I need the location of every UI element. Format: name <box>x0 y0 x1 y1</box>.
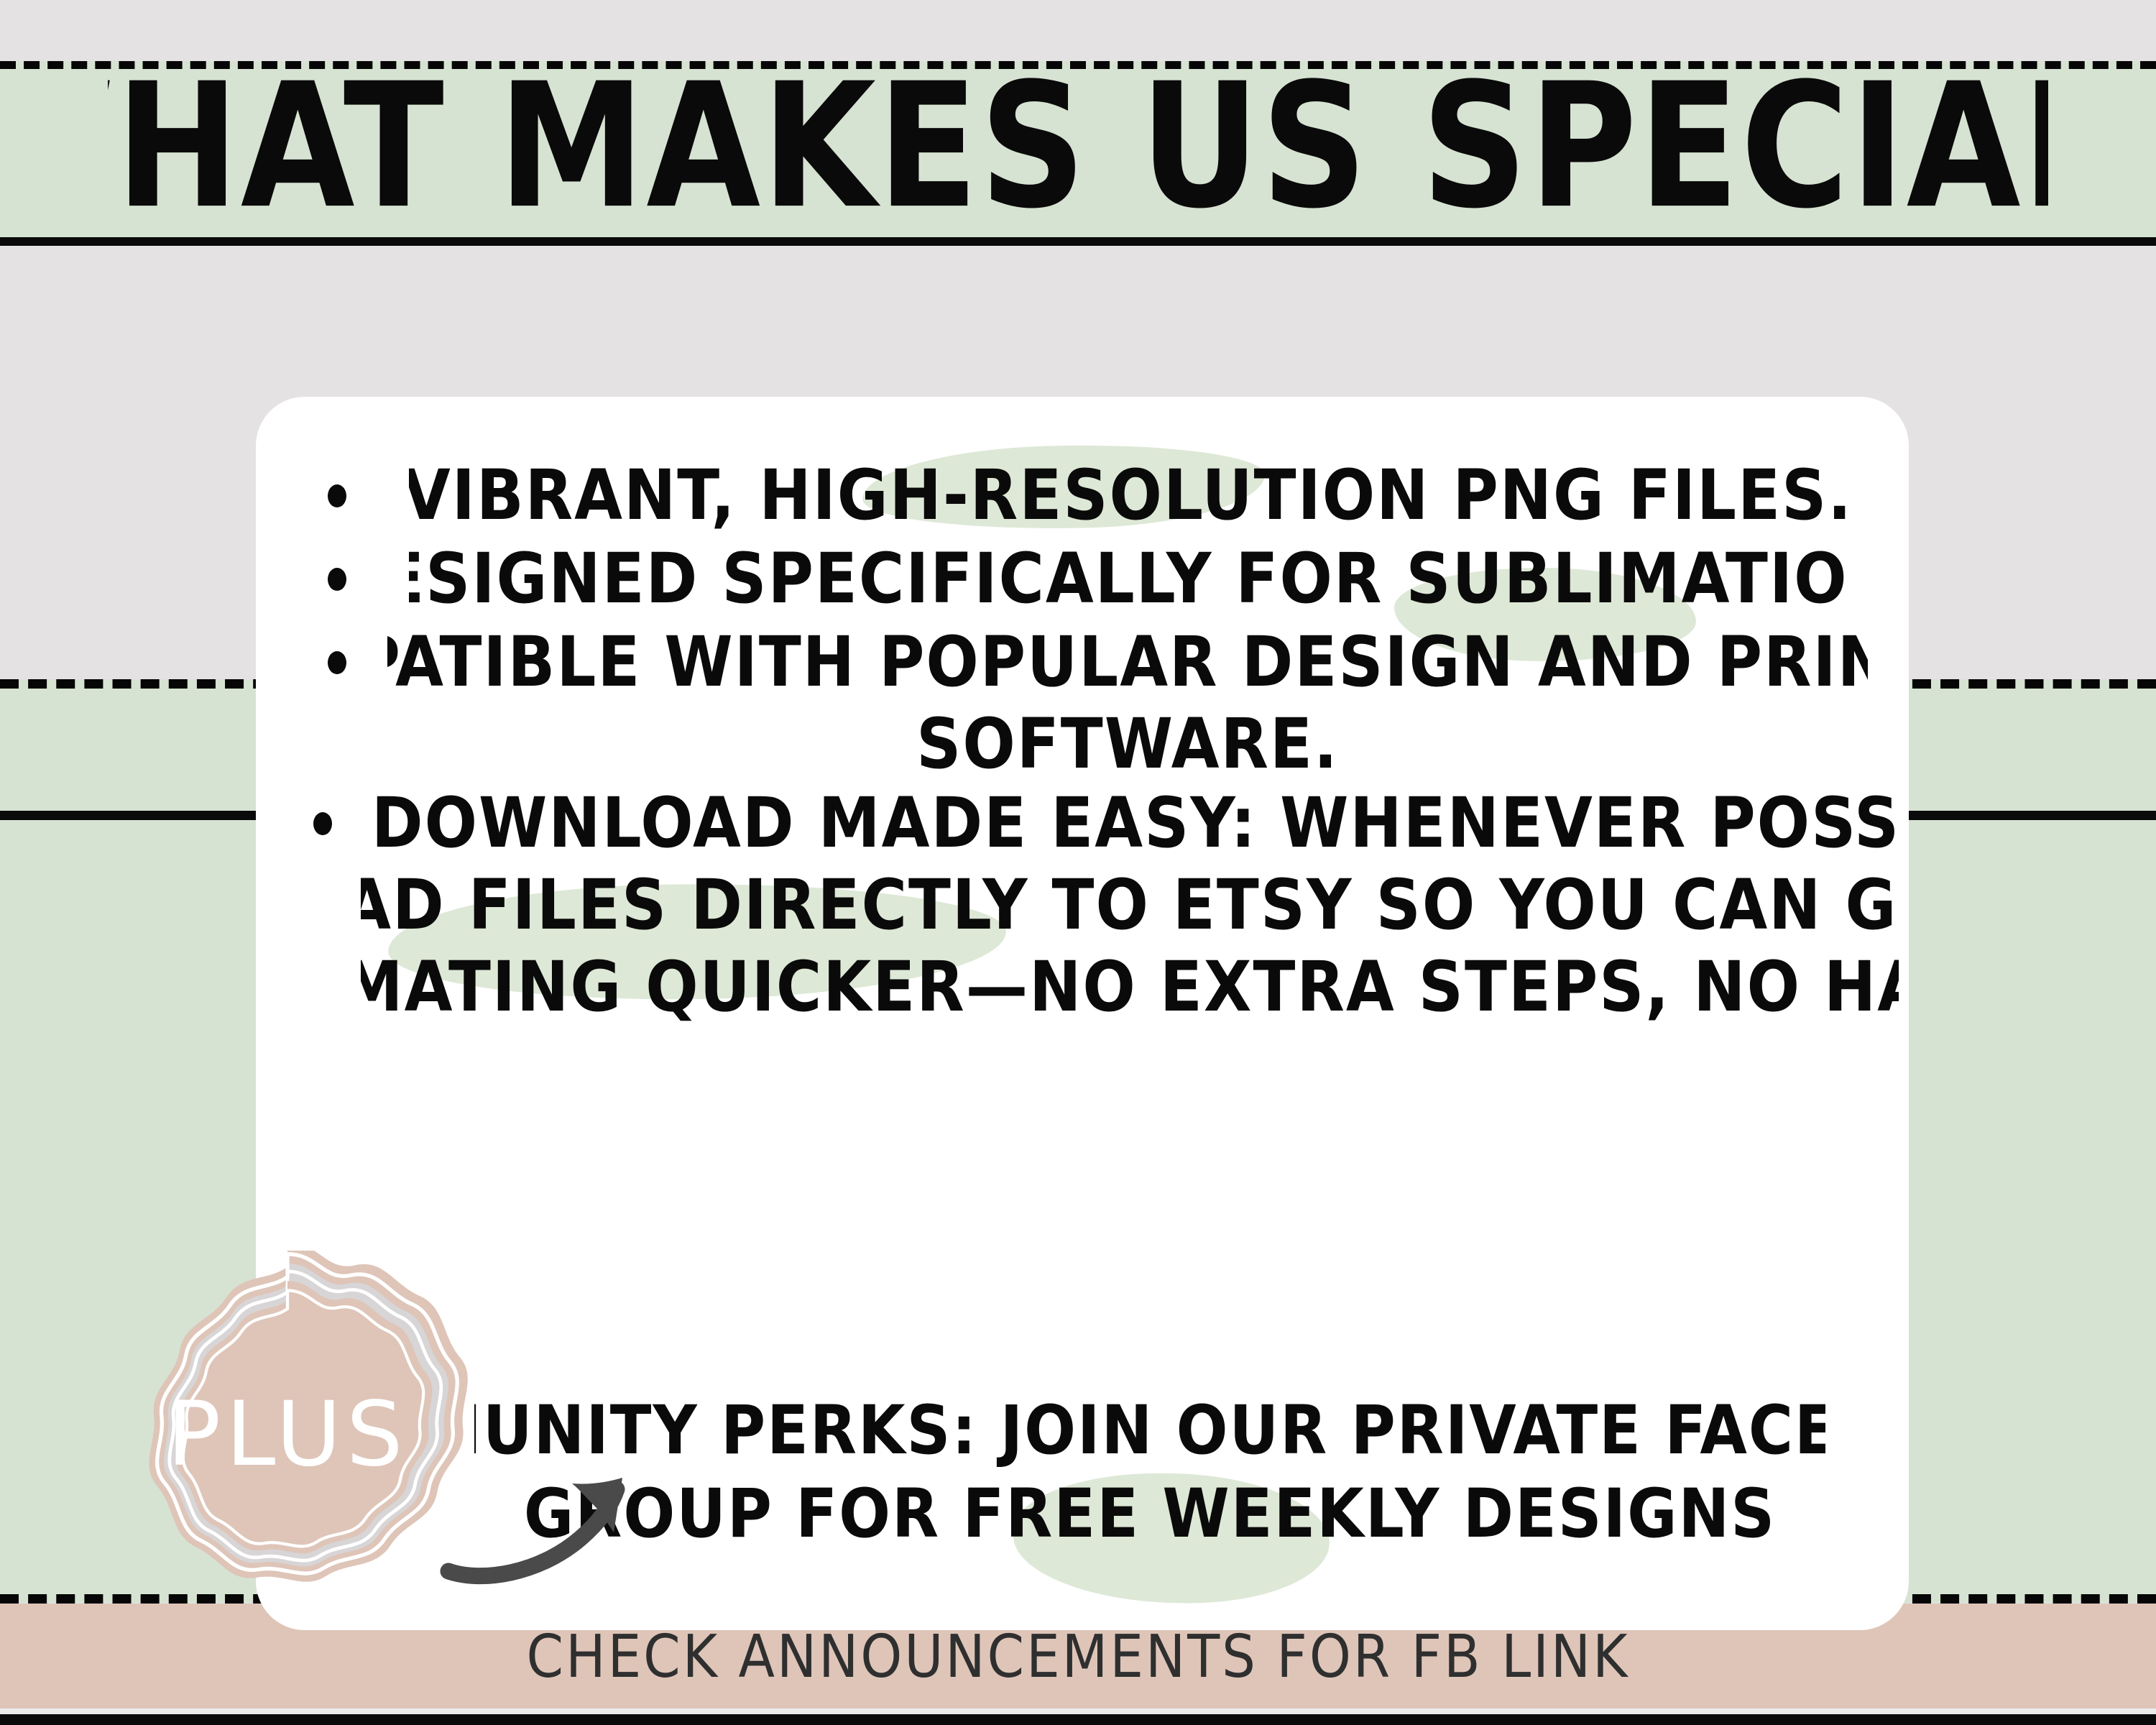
bullet-1-line-1: VIBRANT, HIGH-RESOLUTION PNG FILES. <box>409 460 1846 535</box>
list-item: INSTANT DOWNLOAD MADE EASY: WHENEVER POS… <box>256 788 1909 1025</box>
list-item-text: INSTANT DOWNLOAD MADE EASY: WHENEVER POS… <box>332 788 1927 1025</box>
bullet-3-line-1: COMPATIBLE WITH POPULAR DESIGN AND PRINT… <box>387 627 1868 702</box>
curved-arrow-icon <box>431 1445 661 1603</box>
bullet-3-line-2: SOFTWARE. <box>916 704 1339 782</box>
bullet-dot-icon <box>313 812 332 835</box>
footer-note: CHECK ANNOUNCEMENTS FOR FB LINK <box>0 1610 2156 1703</box>
page-title-text: WHAT MAKES US SPECIAL? <box>108 68 2048 234</box>
footer-note-text: CHECK ANNOUNCEMENTS FOR FB LINK <box>527 1623 1630 1691</box>
list-item: COMPATIBLE WITH POPULAR DESIGN AND PRINT… <box>256 627 1909 782</box>
bullet-dot-icon <box>328 484 346 507</box>
top-gray-strip <box>0 0 2156 61</box>
perks-line-1: COMMUNITY PERKS: JOIN OUR PRIVATE FACEBO… <box>474 1394 1825 1470</box>
list-item-text: VIBRANT, HIGH-RESOLUTION PNG FILES. <box>346 460 1909 538</box>
bullet-4-line-1: INSTANT DOWNLOAD MADE EASY: WHENEVER POS… <box>361 788 1899 863</box>
feature-bullet-list: VIBRANT, HIGH-RESOLUTION PNG FILES. DESI… <box>256 460 1909 1031</box>
poster-canvas: WHAT MAKES US SPECIAL? VIBRANT, HIGH-RES… <box>0 0 2156 1725</box>
footer-white-strip <box>0 1708 2156 1714</box>
list-item: DESIGNED SPECIFICALLY FOR SUBLIMATION. <box>256 543 1909 621</box>
page-title: WHAT MAKES US SPECIAL? <box>0 61 2156 241</box>
bullet-dot-icon <box>328 568 346 591</box>
badge-label: PLUS <box>167 1383 407 1486</box>
list-item: VIBRANT, HIGH-RESOLUTION PNG FILES. <box>256 460 1909 538</box>
community-perks-text: COMMUNITY PERKS: JOIN OUR PRIVATE FACEBO… <box>474 1394 1825 1560</box>
perks-line-2: GROUP FOR FREE WEEKLY DESIGNS <box>524 1475 1776 1553</box>
bullet-2-line-1: DESIGNED SPECIFICALLY FOR SUBLIMATION. <box>409 543 1846 619</box>
footer-black-rule <box>0 1714 2156 1725</box>
bullet-4-line-2: UPLOAD FILES DIRECTLY TO ETSY SO YOU CAN… <box>361 865 1899 945</box>
list-item-text: COMPATIBLE WITH POPULAR DESIGN AND PRINT… <box>346 627 1909 782</box>
plus-badge: PLUS <box>101 1251 474 1624</box>
bullet-4-line-3: SUBLIMATING QUICKER—NO EXTRA STEPS, NO H… <box>361 947 1899 1025</box>
badge-label-wrap: PLUS <box>101 1251 474 1624</box>
list-item-text: DESIGNED SPECIFICALLY FOR SUBLIMATION. <box>346 543 1909 621</box>
bullet-dot-icon <box>328 651 346 674</box>
